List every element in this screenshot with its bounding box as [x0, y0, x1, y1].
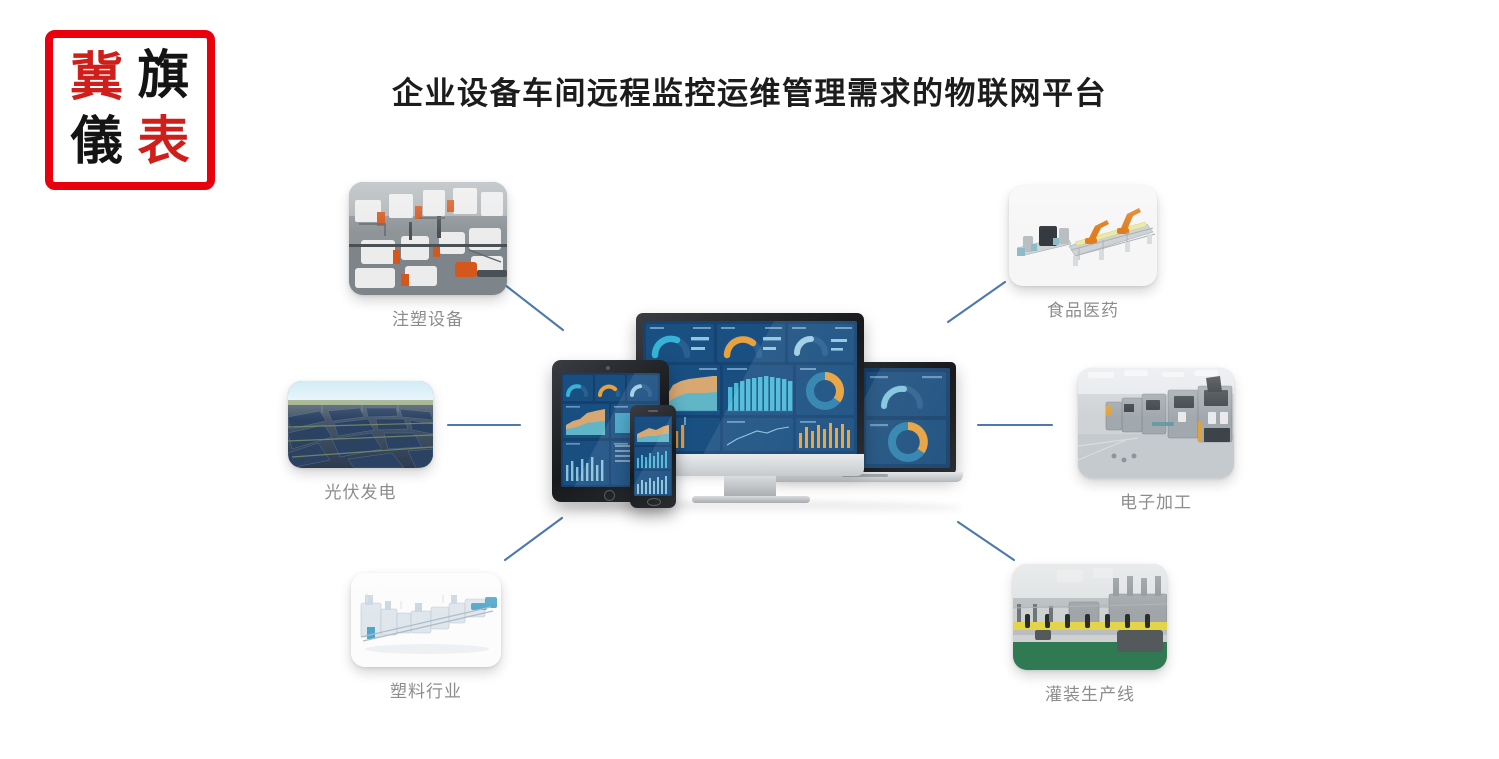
spoke-photovoltaic[interactable]: 光伏发电	[288, 381, 433, 503]
plastics-photo	[351, 573, 501, 667]
spoke-label-electronics: 电子加工	[1078, 488, 1234, 513]
logo-char-4: 表	[128, 108, 199, 176]
filling-line-photo	[1013, 564, 1167, 670]
thumbnail-electronics[interactable]	[1078, 368, 1234, 478]
phone-dashboard	[634, 416, 672, 496]
spoke-electronics[interactable]: 电子加工	[1078, 368, 1234, 513]
spoke-filling-line[interactable]: 灌装生产线	[1013, 564, 1167, 705]
thumbnail-photovoltaic[interactable]	[288, 381, 433, 468]
phone-device	[630, 405, 678, 510]
connector-filling-line	[958, 522, 1014, 560]
device-cluster	[552, 305, 972, 520]
spoke-label-photovoltaic: 光伏发电	[288, 478, 433, 503]
slide-canvas: 冀 旗 儀 表 企业设备车间远程监控运维管理需求的物联网平台	[0, 0, 1499, 759]
logo-char-3: 儀	[61, 108, 132, 176]
connector-plastics	[505, 518, 562, 560]
spoke-injection-molding[interactable]: 注塑设备	[349, 182, 507, 330]
thumbnail-plastics[interactable]	[351, 573, 501, 667]
electronics-photo	[1078, 368, 1234, 478]
page-title: 企业设备车间远程监控运维管理需求的物联网平台	[0, 68, 1499, 113]
spoke-label-food-pharma: 食品医药	[1009, 296, 1157, 321]
photovoltaic-photo	[288, 381, 433, 468]
food-pharma-photo	[1009, 186, 1157, 286]
spoke-label-filling-line: 灌装生产线	[1013, 680, 1167, 705]
injection-molding-photo	[349, 182, 507, 295]
spoke-food-pharma[interactable]: 食品医药	[1009, 186, 1157, 321]
thumbnail-injection-molding[interactable]	[349, 182, 507, 295]
thumbnail-filling-line[interactable]	[1013, 564, 1167, 670]
thumbnail-food-pharma[interactable]	[1009, 186, 1157, 286]
spoke-label-plastics: 塑料行业	[351, 677, 501, 702]
spoke-label-injection-molding: 注塑设备	[349, 305, 507, 330]
spoke-plastics[interactable]: 塑料行业	[351, 573, 501, 702]
